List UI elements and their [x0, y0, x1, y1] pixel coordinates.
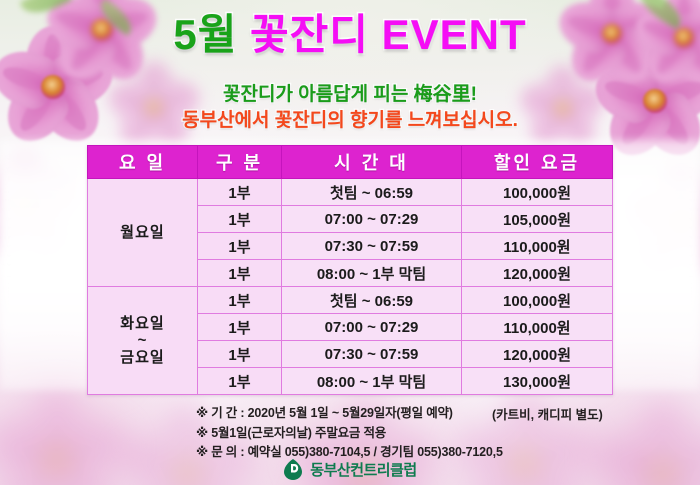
cell-price: 105,000원	[462, 206, 613, 233]
cell-part: 1부	[198, 260, 282, 287]
cell-part: 1부	[198, 314, 282, 341]
cell-part: 1부	[198, 206, 282, 233]
header-part: 구 분	[198, 146, 282, 179]
club-logo: 동부산컨트리클럽	[0, 458, 700, 480]
table-row: 월요일1부첫팀 ~ 06:59100,000원	[88, 179, 613, 206]
cell-price: 110,000원	[462, 233, 613, 260]
cell-time: 07:00 ~ 07:29	[282, 206, 462, 233]
title-main: 꽃잔디 EVENT	[250, 11, 527, 58]
table-header-row: 요 일 구 분 시 간 대 할인 요금	[88, 146, 613, 179]
poster-subtitle: 꽃잔디가 아름답게 피는 梅谷里! 동부산에서 꽃잔디의 향기를 느껴보십시오.	[0, 82, 700, 134]
club-logo-text: 동부산컨트리클럽	[310, 459, 416, 480]
rate-table: 요 일 구 분 시 간 대 할인 요금 월요일1부첫팀 ~ 06:59100,0…	[87, 145, 613, 395]
header-price: 할인 요금	[462, 146, 613, 179]
cell-time: 첫팀 ~ 06:59	[282, 179, 462, 206]
note-holiday: ※ 5월1일(근로자의날) 주말요금 적용	[196, 424, 503, 444]
cell-price: 120,000원	[462, 260, 613, 287]
cell-price: 100,000원	[462, 287, 613, 314]
cell-time: 08:00 ~ 1부 막팀	[282, 368, 462, 395]
rate-table-wrapper: 요 일 구 분 시 간 대 할인 요금 월요일1부첫팀 ~ 06:59100,0…	[87, 145, 612, 395]
cell-price: 130,000원	[462, 368, 613, 395]
cell-part: 1부	[198, 287, 282, 314]
cell-price: 100,000원	[462, 179, 613, 206]
poster-title: 5월 꽃잔디 EVENT	[0, 14, 700, 56]
cell-part: 1부	[198, 341, 282, 368]
cell-part: 1부	[198, 233, 282, 260]
title-month: 5월	[173, 11, 237, 58]
cell-price: 110,000원	[462, 314, 613, 341]
note-extra-fees: (카트비, 캐디피 별도)	[492, 404, 603, 423]
poster-root: 5월 꽃잔디 EVENT 꽃잔디가 아름답게 피는 梅谷里! 동부산에서 꽃잔디…	[0, 0, 700, 485]
table-row: 화요일~금요일1부첫팀 ~ 06:59100,000원	[88, 287, 613, 314]
note-period: ※ 기 간 : 2020년 5월 1일 ~ 5월29일자(평일 예약)	[196, 404, 503, 424]
rate-table-body: 월요일1부첫팀 ~ 06:59100,000원1부07:00 ~ 07:2910…	[88, 179, 613, 395]
cell-time: 08:00 ~ 1부 막팀	[282, 260, 462, 287]
cell-day: 월요일	[88, 179, 198, 287]
subtitle-line-1: 꽃잔디가 아름답게 피는 梅谷里!	[0, 82, 700, 108]
cell-price: 120,000원	[462, 341, 613, 368]
cell-day: 화요일~금요일	[88, 287, 198, 395]
header-day: 요 일	[88, 146, 198, 179]
cell-time: 첫팀 ~ 06:59	[282, 287, 462, 314]
cell-time: 07:30 ~ 07:59	[282, 341, 462, 368]
subtitle-line-2: 동부산에서 꽃잔디의 향기를 느껴보십시오.	[0, 108, 700, 134]
cell-part: 1부	[198, 179, 282, 206]
cell-time: 07:00 ~ 07:29	[282, 314, 462, 341]
notes-block: ※ 기 간 : 2020년 5월 1일 ~ 5월29일자(평일 예약) ※ 5월…	[196, 404, 503, 463]
cell-part: 1부	[198, 368, 282, 395]
header-time: 시 간 대	[282, 146, 462, 179]
leaf-droplet-icon	[283, 458, 303, 480]
cell-time: 07:30 ~ 07:59	[282, 233, 462, 260]
